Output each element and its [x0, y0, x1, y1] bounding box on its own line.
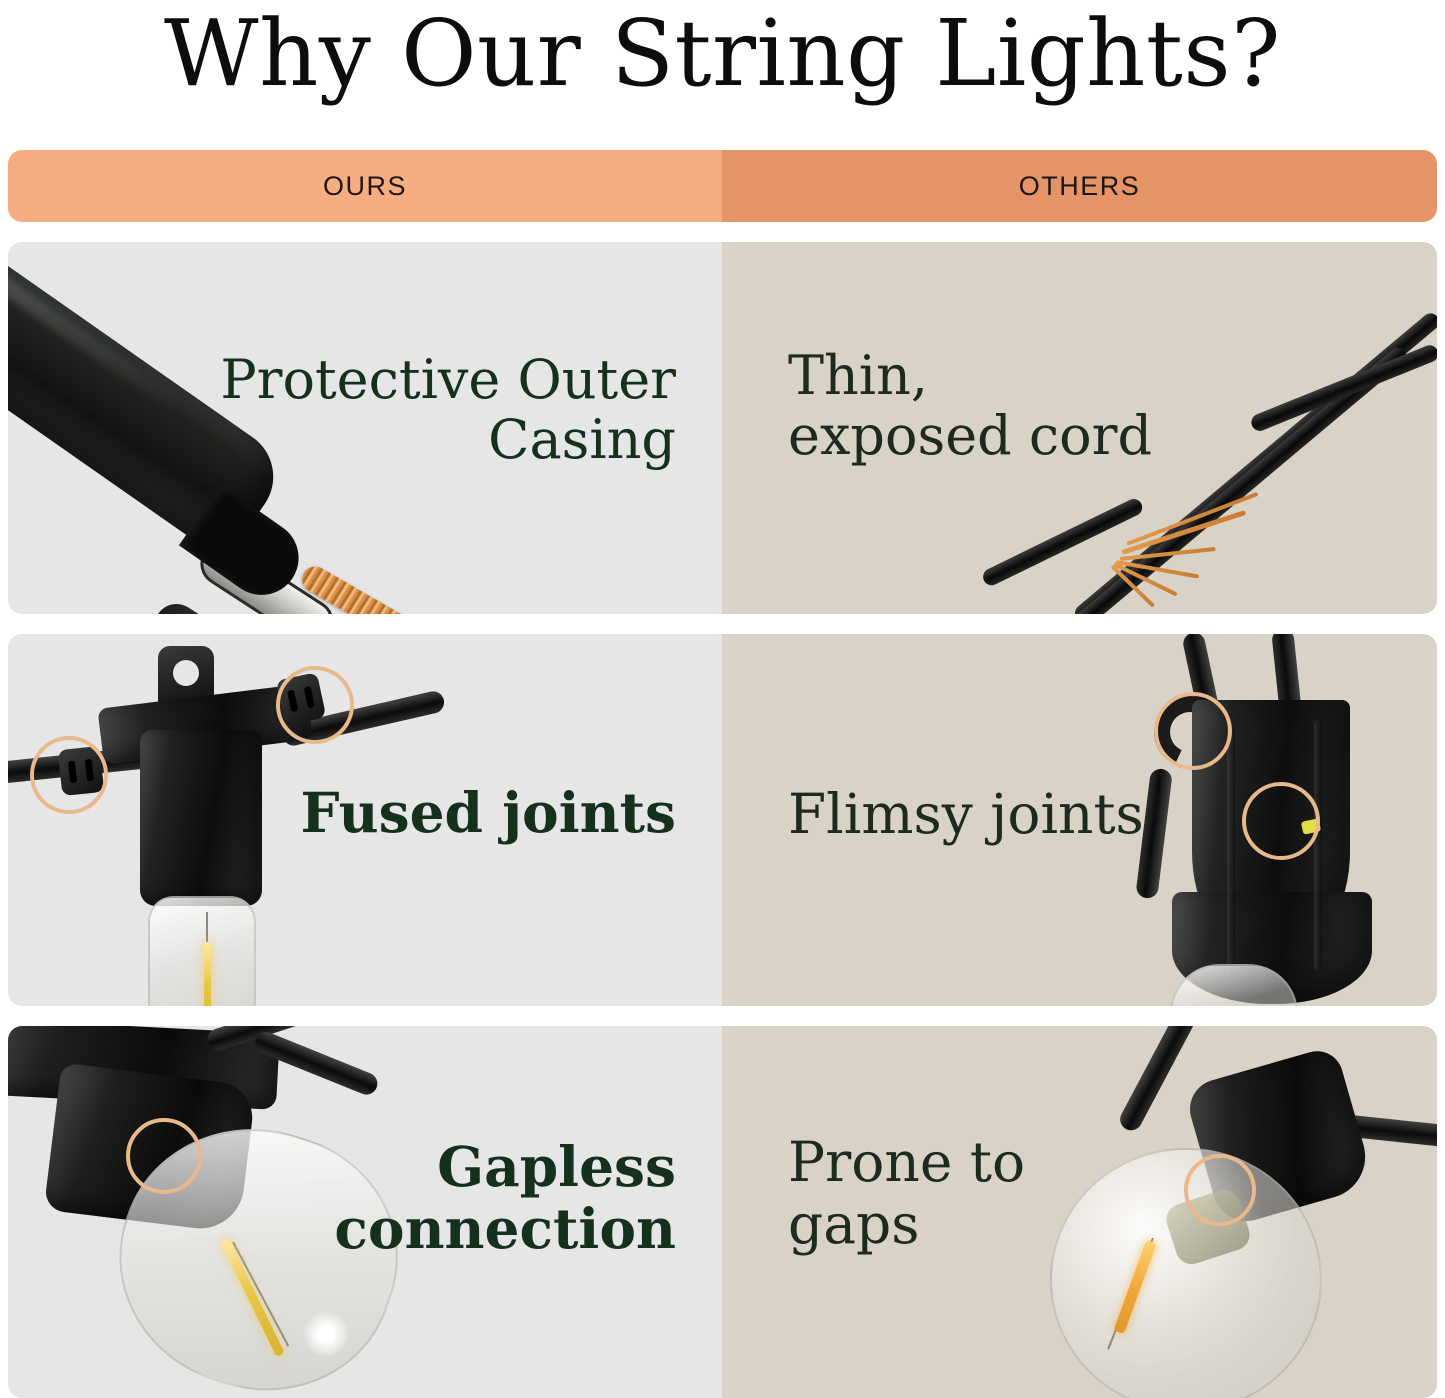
cell-others-thin-cord: Thin, exposed cord	[722, 242, 1437, 614]
table-header-row: OURS OTHERS	[8, 150, 1437, 222]
header-cell-ours: OURS	[8, 150, 722, 222]
highlight-ring-left-joint	[30, 736, 108, 814]
cell-ours-gapless-connection: Gapless connection	[8, 1026, 722, 1398]
header-label-others: OTHERS	[1019, 171, 1141, 202]
cell-others-flimsy-joints: Flimsy joints	[722, 634, 1437, 1006]
row-label-others: Prone to gaps	[788, 1132, 1025, 1255]
row-label-others: Thin, exposed cord	[788, 346, 1152, 467]
body-rib	[1227, 724, 1235, 974]
filament-glow-tip	[304, 1312, 348, 1356]
table-row: Fused joints	[8, 634, 1437, 1006]
hang-hole	[173, 660, 199, 686]
row-label-others: Flimsy joints	[788, 784, 1144, 846]
row-label-ours: Gapless connection	[334, 1136, 676, 1259]
body-rib	[1314, 720, 1322, 970]
row-label-ours: Protective Outer Casing	[220, 350, 676, 471]
header-label-ours: OURS	[323, 171, 407, 202]
highlight-ring-hook-joint	[1154, 692, 1232, 770]
highlight-ring-gapless-seam	[126, 1118, 202, 1194]
highlight-ring-right-joint	[276, 666, 354, 744]
cell-ours-fused-joints: Fused joints	[8, 634, 722, 1006]
cell-ours-protective-casing: Protective Outer Casing	[8, 242, 722, 614]
row-label-ours: Fused joints	[301, 782, 676, 844]
filament-icon	[204, 942, 211, 1006]
header-cell-others: OTHERS	[722, 150, 1437, 222]
highlight-ring-gap	[1184, 1154, 1256, 1226]
highlight-ring-gap-joint	[1242, 782, 1320, 860]
comparison-table: OURS OTHERS Protective Outer Casing	[8, 150, 1437, 1398]
bulb-glass	[148, 896, 256, 1006]
table-row: Gapless connection Prone to gaps	[8, 1026, 1437, 1398]
copper-strand-icon	[298, 562, 519, 614]
cell-others-prone-to-gaps: Prone to gaps	[722, 1026, 1437, 1398]
broken-cord-upper	[1249, 343, 1437, 434]
socket-barrel	[140, 730, 262, 906]
filament-wire	[206, 912, 208, 946]
page-title: Why Our String Lights?	[0, 0, 1445, 148]
table-row: Protective Outer Casing Thin, exposed	[8, 242, 1437, 614]
